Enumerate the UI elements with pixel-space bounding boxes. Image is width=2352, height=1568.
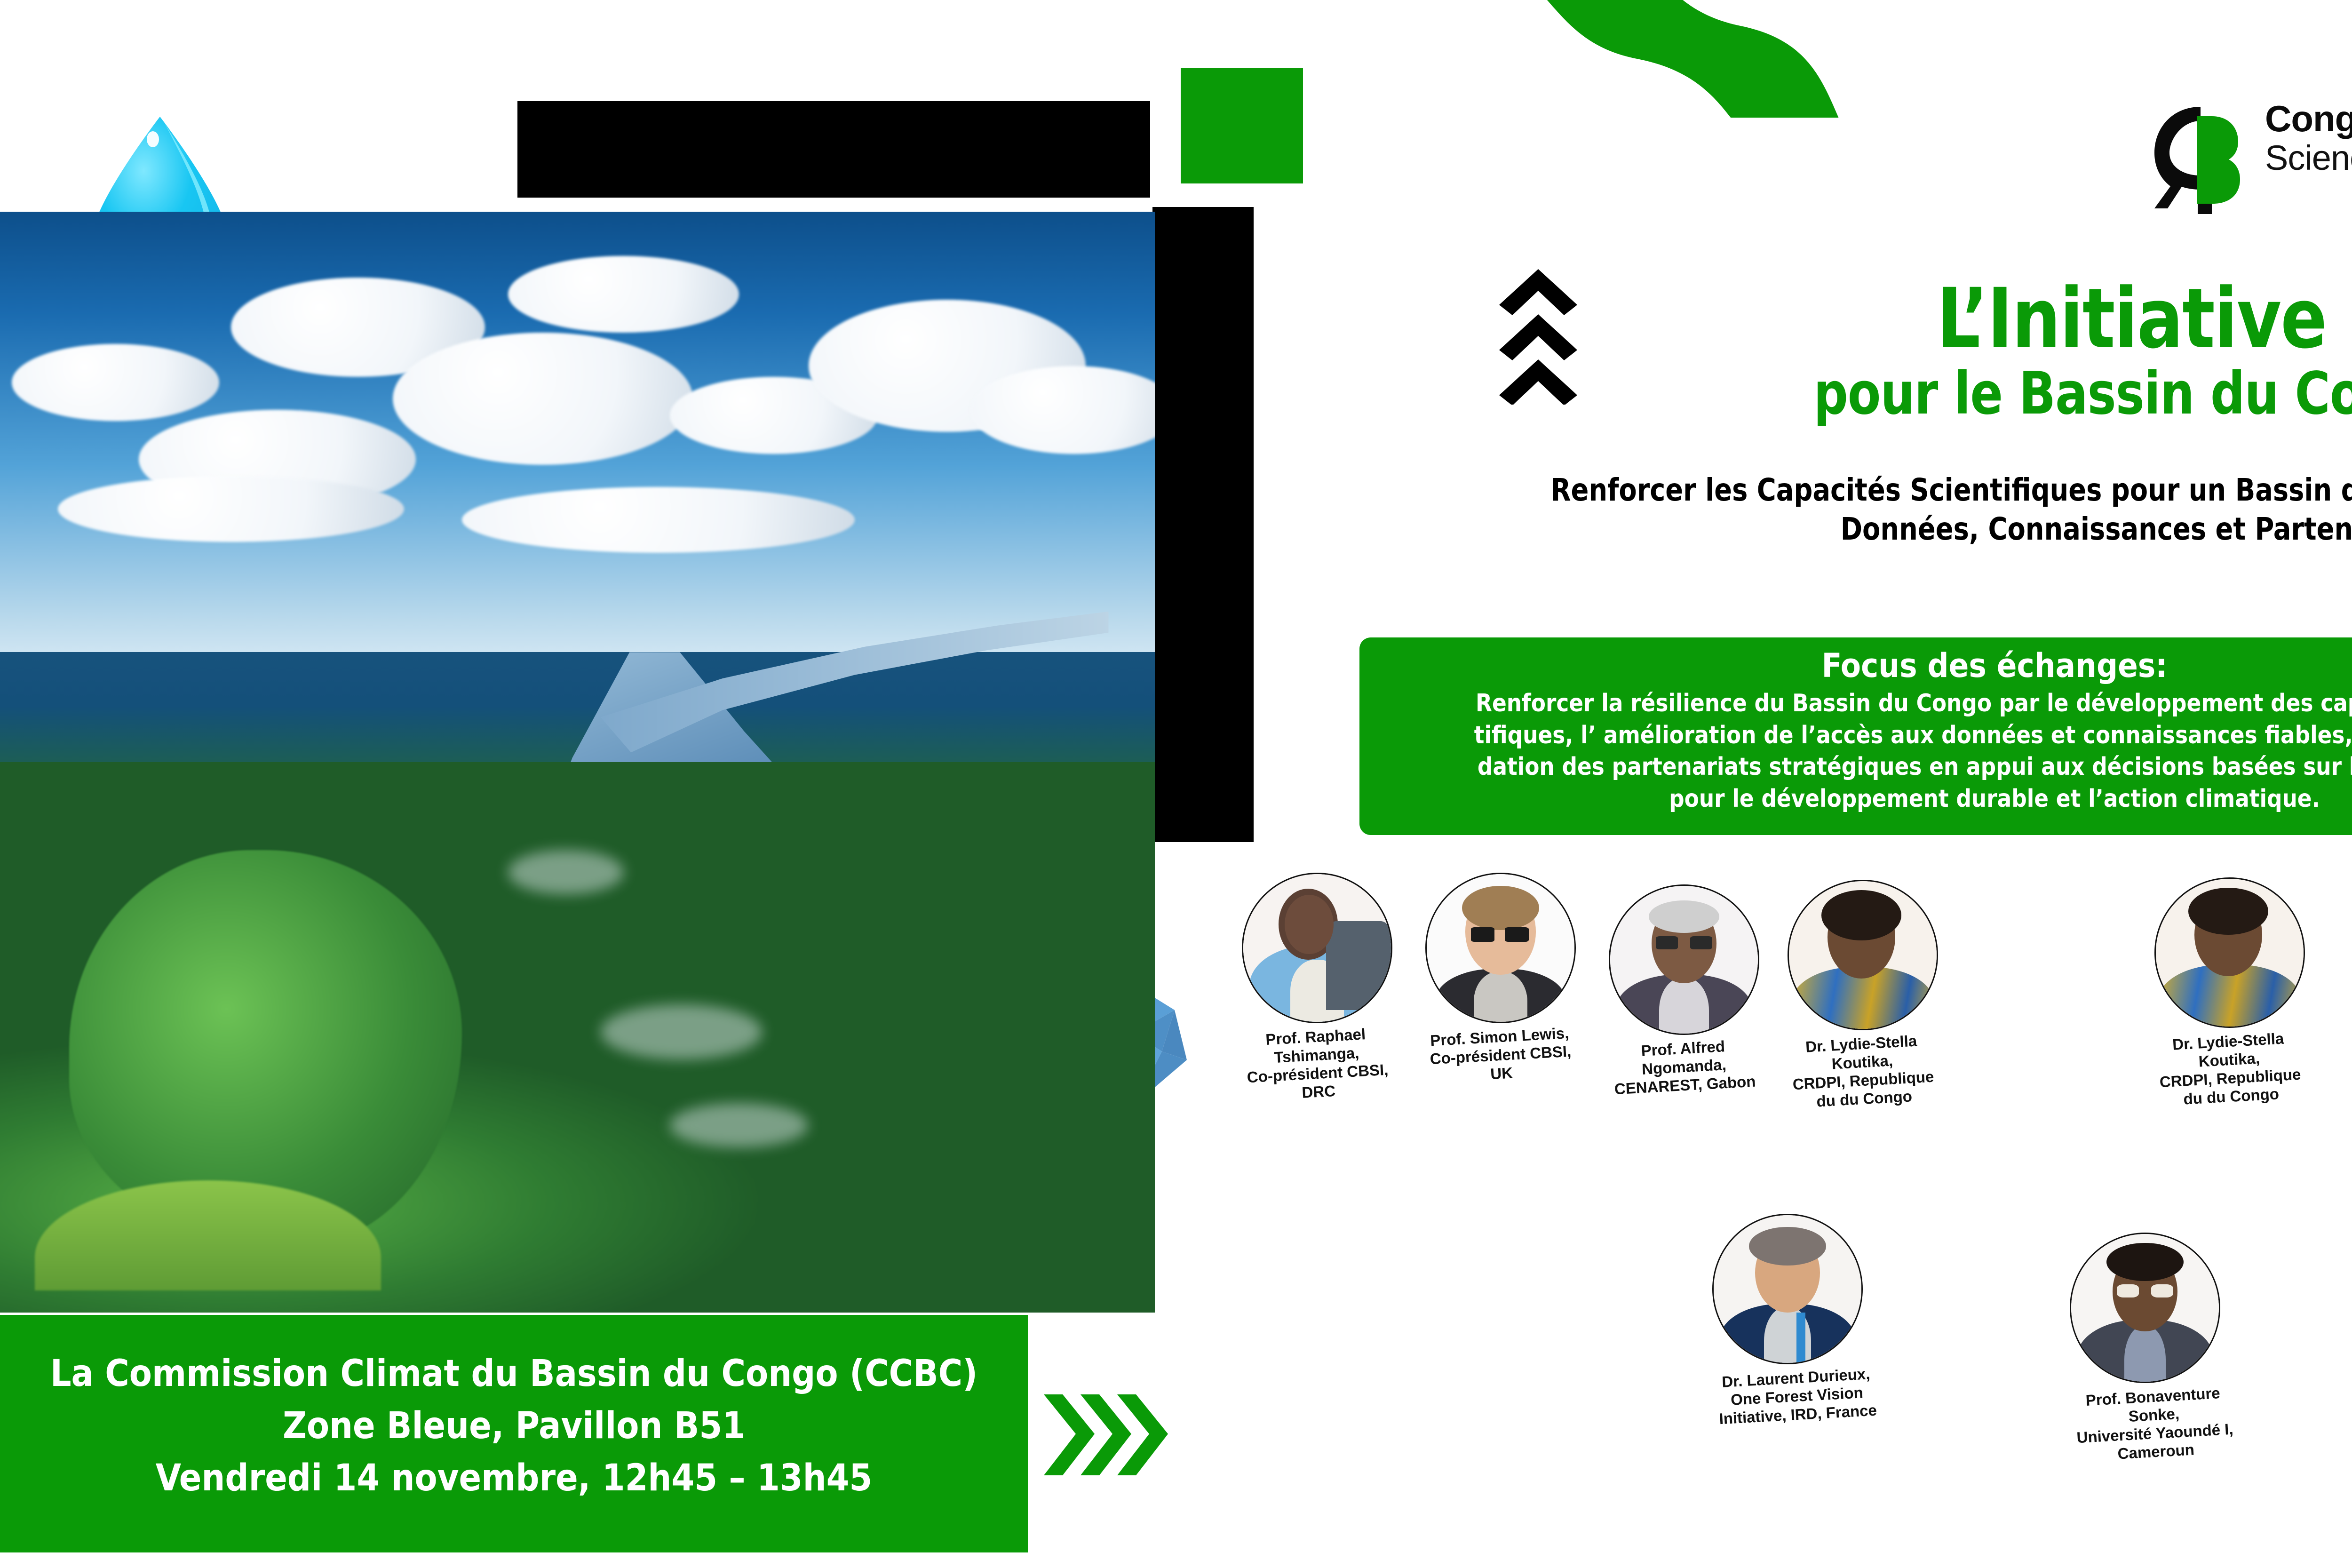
focus-line: dation des partenariats stratégiques en … <box>1397 751 2352 783</box>
speaker-card: Dr. Lydie-Stella Koutika, CRDPI, Republi… <box>2154 877 2305 1106</box>
focus-title: Focus des échanges: <box>1378 648 2352 684</box>
speaker-card: Dr. Laurent Durieux, One Forest Vision I… <box>1712 1214 1882 1424</box>
speaker-card: Dr. Lydie-Stella Koutika, CRDPI, Republi… <box>1788 880 1938 1108</box>
avatar <box>1425 873 1576 1023</box>
subtitle-line1: Renforcer les Capacités Scientifiques po… <box>1423 470 2352 509</box>
speaker-card: Prof. Raphael Tshimanga, Co-président CB… <box>1242 873 1392 1101</box>
speaker-caption: Prof. Simon Lewis, Co-président CBSI, UK <box>1424 1024 1577 1087</box>
focus-body: Renforcer la résilience du Bassin du Con… <box>1378 688 2352 815</box>
decor-black-rect-mid <box>1152 207 1254 842</box>
speaker-affiliation: Université Yaoundé I, Cameroun <box>2076 1420 2234 1463</box>
speaker-card: Prof. Bonaventure Sonke, Université Yaou… <box>2070 1233 2239 1461</box>
decor-black-rect-top <box>517 101 1150 198</box>
speaker-card: Prof. Simon Lewis, Co-président CBSI, UK <box>1425 873 1576 1083</box>
speaker-caption: Dr. Lydie-Stella Koutika, CRDPI, Republi… <box>2153 1028 2307 1110</box>
page-title-line2: pour le Bassin du Congo - CBSI <box>1691 360 2352 428</box>
speaker-caption: Dr. Laurent Durieux, One Forest Vision I… <box>1711 1364 1883 1429</box>
page-title-line1: L’Initiative Science <box>1691 278 2352 360</box>
speaker-caption: Prof. Bonaventure Sonke, Université Yaou… <box>2068 1383 2241 1466</box>
venue-line2: Zone Bleue, Pavillon B51 <box>0 1400 1028 1452</box>
speaker-name: Prof. Bonaventure Sonke, <box>2085 1384 2221 1425</box>
speaker-caption: Prof. Alfred Ngomanda, CENAREST, Gabon <box>1607 1035 1761 1098</box>
avatar <box>2154 877 2305 1028</box>
focus-line: pour le développement durable et l’actio… <box>1397 783 2352 815</box>
avatar <box>1788 880 1938 1030</box>
focus-panel: Focus des échanges: Renforcer la résilie… <box>1359 637 2352 835</box>
speaker-affiliation: CRDPI, Republique du du Congo <box>2159 1065 2301 1107</box>
focus-line: Renforcer la résilience du Bassin du Con… <box>1397 688 2352 720</box>
subtitle-line2: Données, Connaissances et Partenariats S… <box>1423 509 2352 549</box>
avatar <box>1609 884 1759 1035</box>
avatar <box>2070 1233 2220 1383</box>
chevron-right-stack-icon <box>1042 1393 1169 1477</box>
chevron-up-stack-icon <box>1498 268 1578 405</box>
logo-line2: Science Initiative <box>2265 140 2352 176</box>
avatar <box>1712 1214 1863 1364</box>
speaker-name: Dr. Lydie-Stella Koutika, <box>1805 1032 1917 1073</box>
green-wave-icon <box>1496 0 1994 118</box>
speaker-name: Dr. Lydie-Stella Koutika, <box>2172 1030 2284 1070</box>
speaker-card: Prof. Alfred Ngomanda, CENAREST, Gabon <box>1609 884 1759 1095</box>
focus-line: tifiques, l’ amélioration de l’accès aux… <box>1397 720 2352 752</box>
speaker-caption: Prof. Raphael Tshimanga, Co-président CB… <box>1240 1024 1394 1105</box>
speaker-affiliation: CRDPI, Republique du du Congo <box>1792 1067 1934 1110</box>
cb-monogram-icon <box>2145 96 2253 214</box>
logo-line1: Congo Basin <box>2265 100 2352 137</box>
speaker-name: Prof. Raphael Tshimanga, <box>1265 1025 1366 1066</box>
speaker-affiliation: One Forest Vision Initiative, IRD, Franc… <box>1719 1384 1877 1427</box>
avatar <box>1242 873 1392 1023</box>
headline: L’Initiative Science pour le Bassin du C… <box>1609 278 2352 428</box>
venue-line3: Vendredi 14 novembre, 12h45 – 13h45 <box>0 1452 1028 1504</box>
speaker-affiliation: Co-président CBSI, UK <box>1430 1043 1572 1083</box>
decor-green-square-top <box>1181 68 1303 183</box>
venue-panel: La Commission Climat du Bassin du Congo … <box>0 1315 1028 1552</box>
speaker-caption: Dr. Lydie-Stella Koutika, CRDPI, Republi… <box>1786 1031 1940 1112</box>
congo-river-photo <box>0 212 1155 1313</box>
cbsi-logo: Congo Basin Science Initiative <box>2145 96 2352 219</box>
speaker-affiliation: CENAREST, Gabon <box>1614 1072 1756 1098</box>
venue-line1: La Commission Climat du Bassin du Congo … <box>0 1348 1028 1400</box>
speaker-affiliation: Co-président CBSI, DRC <box>1247 1060 1389 1101</box>
page-subtitle: Renforcer les Capacités Scientifiques po… <box>1345 470 2352 549</box>
speaker-name: Prof. Alfred Ngomanda, <box>1641 1037 1727 1078</box>
